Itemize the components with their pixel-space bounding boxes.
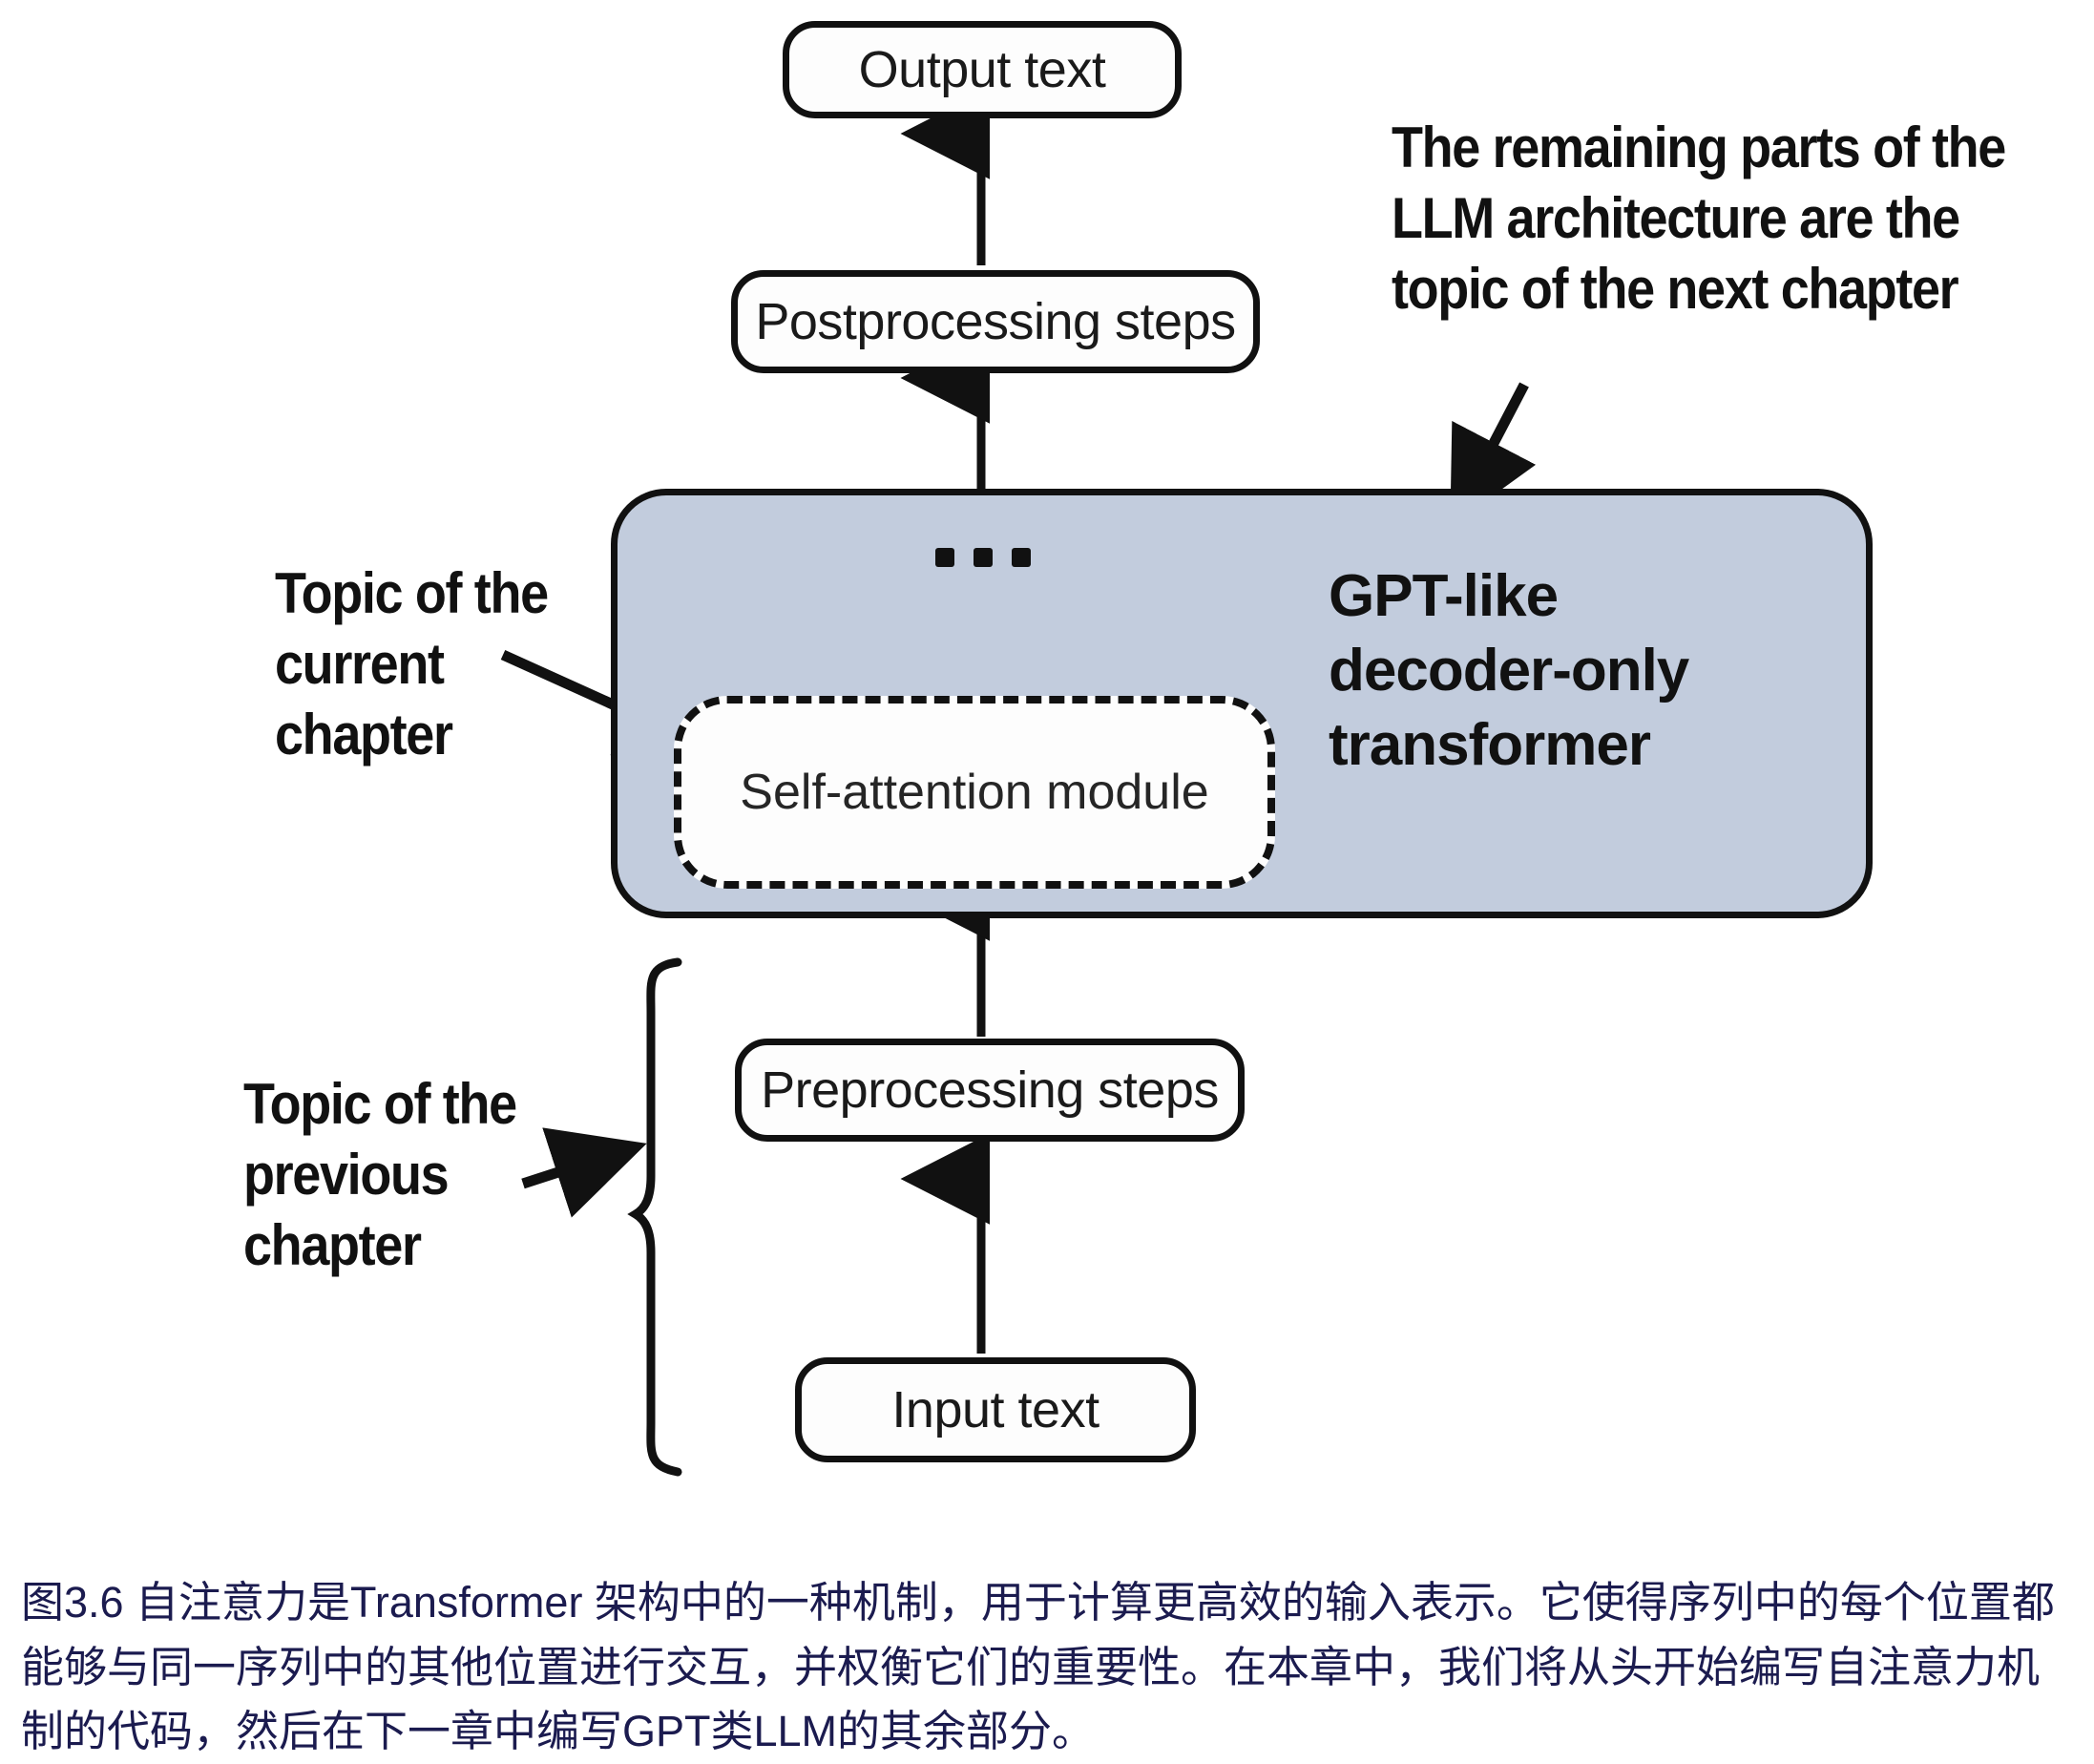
callout-current-chapter-line-3: chapter	[275, 700, 636, 770]
ellipsis-dot	[974, 548, 993, 567]
node-output-text: Output text	[783, 21, 1182, 118]
preprocessing-group-brace	[636, 962, 678, 1472]
node-self-attention-module: Self-attention module	[674, 696, 1275, 889]
transformer-block-label-line-3: transformer	[1329, 708, 1777, 783]
figure-caption: 图3.6 自注意力是Transformer 架构中的一种机制，用于计算更高效的输…	[21, 1570, 2078, 1764]
callout-previous-chapter-line-1: Topic of the	[243, 1069, 604, 1140]
callout-current-chapter: Topic of the current chapter	[275, 558, 636, 769]
callout-next-chapter-line-2: LLM architecture are the	[1392, 183, 2094, 254]
node-preprocessing-steps: Preprocessing steps	[735, 1039, 1245, 1142]
node-input-text: Input text	[795, 1357, 1196, 1462]
callout-previous-chapter-line-3: chapter	[243, 1210, 604, 1281]
transformer-block-label: GPT-like decoder-only transformer	[1329, 559, 1777, 783]
callout-next-chapter: The remaining parts of the LLM architect…	[1392, 113, 2094, 324]
callout-next-chapter-line-3: topic of the next chapter	[1392, 254, 2094, 325]
transformer-block-label-line-2: decoder-only	[1329, 634, 1777, 708]
callout-current-chapter-line-2: current	[275, 629, 636, 700]
callout-previous-chapter: Topic of the previous chapter	[243, 1069, 604, 1280]
figure-diagram: GPT-like decoder-only transformer Output…	[0, 0, 2094, 1527]
callout-previous-chapter-line-2: previous	[243, 1140, 604, 1210]
ellipsis-dots-icon	[935, 546, 1031, 569]
transformer-block-label-line-1: GPT-like	[1329, 559, 1777, 634]
node-postprocessing-steps: Postprocessing steps	[731, 270, 1260, 373]
ellipsis-dot	[935, 548, 954, 567]
callout-current-chapter-line-1: Topic of the	[275, 558, 636, 629]
ellipsis-dot	[1012, 548, 1031, 567]
callout-next-chapter-line-1: The remaining parts of the	[1392, 113, 2094, 183]
